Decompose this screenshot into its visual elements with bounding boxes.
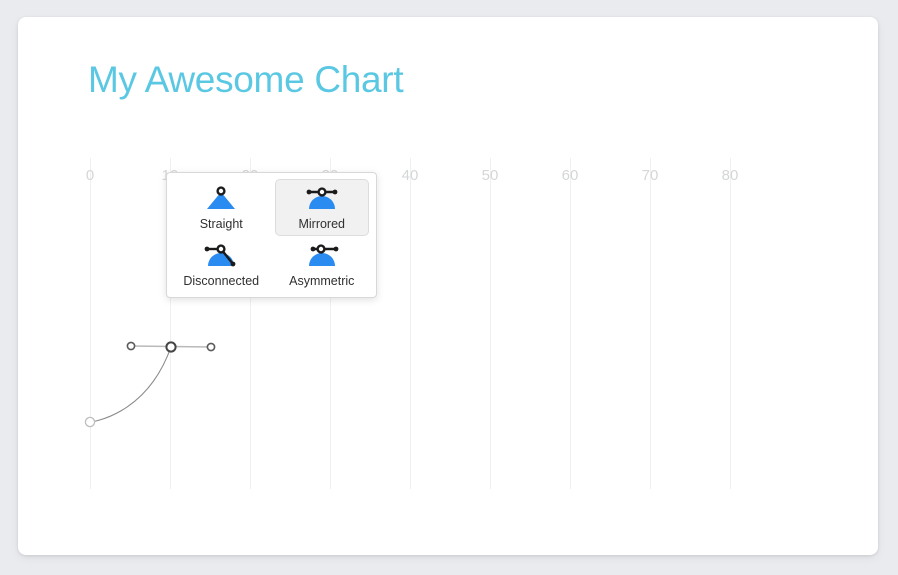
gridline: [650, 158, 651, 489]
x-axis-tick-label: 0: [60, 168, 120, 183]
x-axis-tick-label: 40: [380, 168, 440, 183]
x-axis-tick-label: 70: [620, 168, 680, 183]
menu-item-label: Mirrored: [298, 218, 345, 232]
chart-card: My Awesome Chart 01020304050607080: [18, 17, 878, 555]
menu-item-mirrored[interactable]: Mirrored: [275, 179, 370, 236]
menu-item-label: Asymmetric: [289, 275, 354, 289]
gridline: [730, 158, 731, 489]
gridline: [90, 158, 91, 489]
mirrored-node-icon: [300, 184, 344, 214]
menu-item-label: Straight: [200, 218, 243, 232]
menu-item-disconnected[interactable]: Disconnected: [174, 236, 269, 293]
gridline: [570, 158, 571, 489]
menu-item-straight[interactable]: Straight: [174, 179, 269, 236]
node-type-menu[interactable]: Straight Mirrored: [166, 172, 377, 298]
straight-node-icon: [199, 184, 243, 214]
menu-item-asymmetric[interactable]: Asymmetric: [275, 236, 370, 293]
plot-area: 01020304050607080: [18, 17, 878, 555]
gridline: [490, 158, 491, 489]
asymmetric-node-icon: [300, 241, 344, 271]
gridline: [410, 158, 411, 489]
x-axis-tick-label: 50: [460, 168, 520, 183]
x-axis-tick-label: 60: [540, 168, 600, 183]
disconnected-node-icon: [199, 241, 243, 271]
app-root: My Awesome Chart 01020304050607080: [0, 0, 898, 575]
x-axis-tick-label: 80: [700, 168, 760, 183]
menu-item-label: Disconnected: [183, 275, 259, 289]
